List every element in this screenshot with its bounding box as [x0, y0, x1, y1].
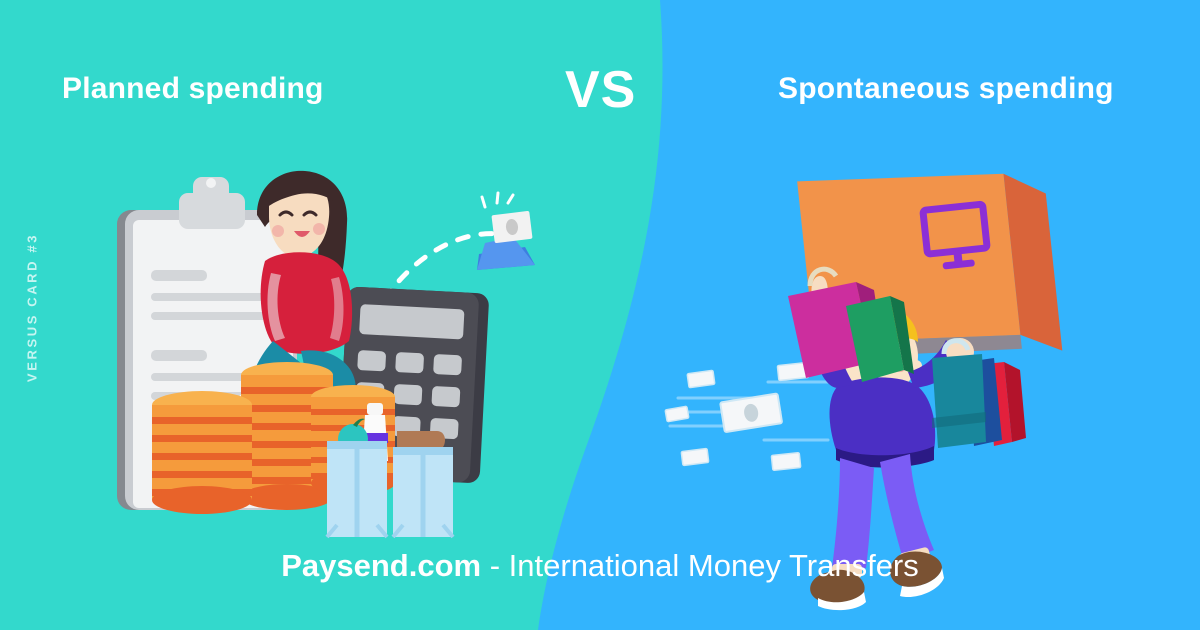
- shirt: [830, 377, 936, 459]
- brand-name: Paysend.com: [281, 548, 481, 583]
- left-panel-heading: Planned spending: [62, 72, 324, 106]
- spontaneous-spending-illustration: [660, 150, 1080, 550]
- versus-card: VERSUS CARD #3 Planned spending VS Spont…: [0, 0, 1200, 630]
- side-label: VERSUS CARD #3: [25, 213, 40, 403]
- flying-banknotes: [665, 362, 830, 470]
- brand-tagline: - International Money Transfers: [481, 548, 919, 583]
- coin-stack-left: [152, 391, 252, 514]
- vs-label: VS: [565, 60, 636, 120]
- footer: Paysend.com - International Money Transf…: [0, 548, 1200, 584]
- right-panel-heading: Spontaneous spending: [778, 72, 1114, 106]
- planned-spending-illustration: [105, 165, 565, 540]
